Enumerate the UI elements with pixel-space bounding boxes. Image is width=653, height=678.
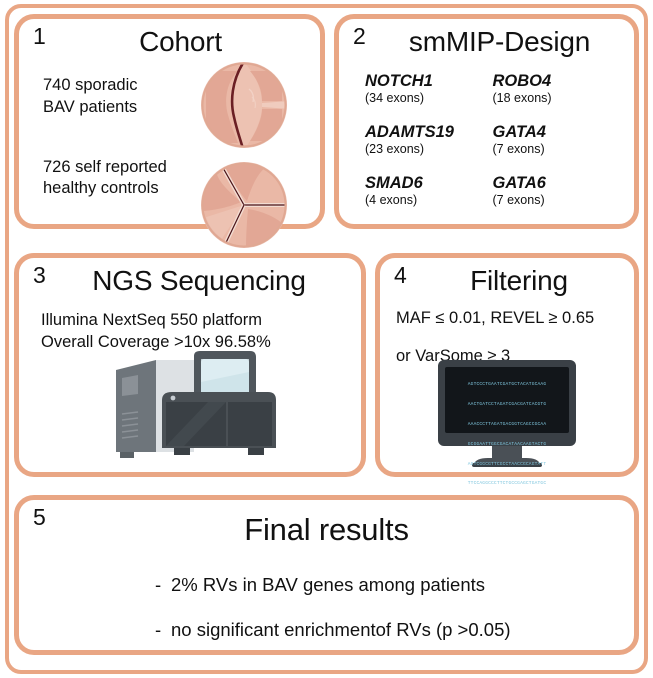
gene-exons: (4 exons): [365, 193, 493, 208]
gene-entry: GATA6 (7 exons): [493, 174, 621, 208]
gene-entry: NOTCH1 (34 exons): [365, 72, 493, 106]
gene-entry: SMAD6 (4 exons): [365, 174, 493, 208]
valve-illustrations: [192, 59, 312, 259]
gene-entry: ROBO4 (18 exons): [493, 72, 621, 106]
gene-exons: (18 exons): [493, 91, 621, 106]
panel-number: 3: [33, 264, 46, 287]
cohort-controls: 726 self reported healthy controls: [43, 157, 213, 201]
gene-name: NOTCH1: [365, 72, 493, 91]
panel-title: Cohort: [19, 19, 320, 56]
cohort-controls-line-2: healthy controls: [43, 178, 213, 200]
cohort-patients-line-1: 740 sporadic: [43, 75, 213, 97]
tricuspid-aortic-valve-icon: [192, 159, 296, 251]
panel-cohort: 1 Cohort 740 sporadic BAV patients 726 s…: [14, 14, 325, 229]
cohort-patients-line-2: BAV patients: [43, 97, 213, 119]
gene-name: ADAMTS19: [365, 123, 493, 142]
sequencer-illustration: [19, 348, 361, 466]
sequencing-details: Illumina NextSeq 550 platform Overall Co…: [41, 310, 351, 354]
result-text: 2% RVs in BAV genes among patients: [171, 574, 485, 595]
gene-name: GATA4: [493, 123, 621, 142]
gene-exons: (23 exons): [365, 142, 493, 157]
cohort-controls-line-1: 726 self reported: [43, 157, 213, 179]
monitor-assembly: AGTCCCTGAATCGATGCTACATGCAAG AACTGATCCTAG…: [432, 358, 582, 468]
panel-number: 4: [394, 264, 407, 287]
dna-line: AAACCCTTAGATGACGGTCAGCCGCAA: [445, 422, 569, 429]
gene-exons: (34 exons): [365, 91, 493, 106]
panel-title: NGS Sequencing: [19, 258, 361, 295]
sequencing-platform: Illumina NextSeq 550 platform: [41, 310, 351, 332]
panel-number: 1: [33, 25, 46, 48]
panel-smmip-design: 2 smMIP-Design NOTCH1 (34 exons) ROBO4 (…: [334, 14, 639, 229]
cohort-patients: 740 sporadic BAV patients: [43, 75, 213, 119]
dna-line: GCGGAATTGGCGACATAACAAGTACTG: [445, 442, 569, 449]
panel-number: 2: [353, 25, 366, 48]
panel-ngs-sequencing: 3 NGS Sequencing Illumina NextSeq 550 pl…: [14, 253, 366, 477]
panel-title: Filtering: [380, 258, 634, 295]
gene-name: SMAD6: [365, 174, 493, 193]
workflow-figure: 1 Cohort 740 sporadic BAV patients 726 s…: [0, 0, 653, 678]
gene-entry: GATA4 (7 exons): [493, 123, 621, 157]
gene-entry: ADAMTS19 (23 exons): [365, 123, 493, 157]
nextseq-sequencer-icon: [98, 348, 283, 466]
gene-exons: (7 exons): [493, 193, 621, 208]
bicuspid-aortic-valve-icon: [192, 59, 296, 151]
results-list: -2% RVs in BAV genes among patients -no …: [115, 573, 634, 642]
result-text: no significant enrichmentof RVs (p >0.05…: [171, 619, 511, 640]
dna-line: AACTGATCCTAGATCGACGATCACGTG: [445, 402, 569, 409]
gene-list: NOTCH1 (34 exons) ROBO4 (18 exons) ADAMT…: [365, 72, 620, 208]
panel-title: smMIP-Design: [339, 19, 634, 56]
cohort-text-block: 740 sporadic BAV patients 726 self repor…: [43, 75, 213, 200]
bullet-dash: -: [155, 618, 171, 642]
panel-title: Final results: [19, 500, 634, 547]
dna-line: AGTCGGCGTTCGCCTAACCGCAGTATT: [445, 462, 569, 469]
result-item: -no significant enrichmentof RVs (p >0.0…: [155, 618, 634, 642]
gene-exons: (7 exons): [493, 142, 621, 157]
filter-criterion-1: MAF ≤ 0.01, REVEL ≥ 0.65: [396, 308, 626, 330]
dna-line: AGTCCCTGAATCGATGCTACATGCAAG: [445, 382, 569, 389]
panel-final-results: 5 Final results -2% RVs in BAV genes amo…: [14, 495, 639, 655]
dna-line: TTCCAGGCCCTTCTGCCGAGCTGATGC: [445, 481, 569, 488]
result-item: -2% RVs in BAV genes among patients: [155, 573, 634, 597]
bullet-dash: -: [155, 573, 171, 597]
monitor-illustration: AGTCCCTGAATCGATGCTACATGCAAG AACTGATCCTAG…: [380, 358, 634, 468]
gene-name: ROBO4: [493, 72, 621, 91]
panel-number: 5: [33, 506, 46, 529]
gene-name: GATA6: [493, 174, 621, 193]
panel-filtering: 4 Filtering MAF ≤ 0.01, REVEL ≥ 0.65 or …: [375, 253, 639, 477]
